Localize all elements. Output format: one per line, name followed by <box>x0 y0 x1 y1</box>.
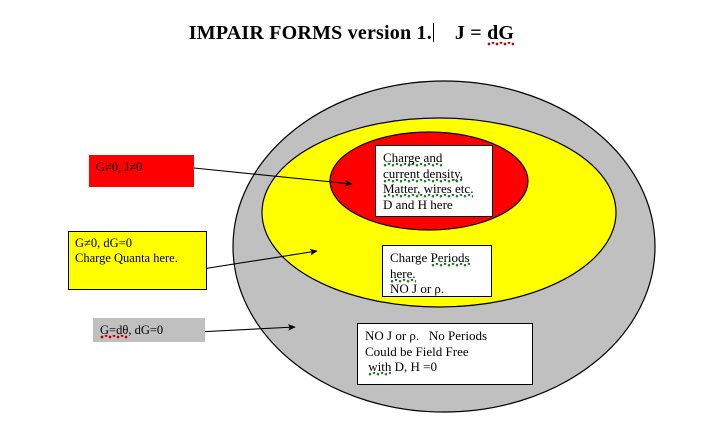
outer-label-line-3-rest: D, H =0 <box>391 359 437 374</box>
diagram-canvas: IMPAIR FORMS version 1.J = dG Charge and… <box>0 0 703 445</box>
inner-label-line-4: D and H here <box>383 197 453 212</box>
nested-ellipse-diagram <box>0 0 703 445</box>
middle-label-line-1-prefix: Charge <box>390 250 431 265</box>
outer-label-line-2: Could be Field Free <box>365 344 469 359</box>
middle-label-line-3: NO J or ρ. <box>390 281 444 296</box>
legend-red-label: G≠0, J≠0 <box>96 160 142 174</box>
inner-label-line-3: Matter, wires etc. <box>383 181 473 198</box>
legend-yellow-line-1: G≠0, dG=0 <box>75 236 132 250</box>
inner-label-line-2: current density, <box>383 166 463 183</box>
middle-ellipse-label-box: Charge Periodshere.NO J or ρ. <box>382 245 492 297</box>
outer-label-line-3-prefix: with <box>368 359 391 376</box>
inner-ellipse-label-box: Charge andcurrent density,Matter, wires … <box>375 145 493 217</box>
middle-label-line-1-word: Periods <box>431 250 470 267</box>
legend-item-yellow[interactable]: G≠0, dG=0Charge Quanta here. <box>68 231 207 290</box>
inner-label-line-1: Charge and <box>383 150 442 167</box>
outer-ellipse-label-box: NO J or ρ. No PeriodsCould be Field Free… <box>357 323 533 385</box>
legend-item-red[interactable]: G≠0, J≠0 <box>89 155 194 187</box>
legend-gray-label-rest: , dG=0 <box>128 323 163 337</box>
outer-label-line-1: NO J or ρ. No Periods <box>365 328 487 343</box>
legend-yellow-line-2: Charge Quanta here. <box>75 251 178 265</box>
legend-gray-label-underlined: G=dθ <box>100 323 128 341</box>
legend-item-gray[interactable]: G=dθ, dG=0 <box>93 318 205 342</box>
middle-label-line-2: here. <box>390 266 416 283</box>
